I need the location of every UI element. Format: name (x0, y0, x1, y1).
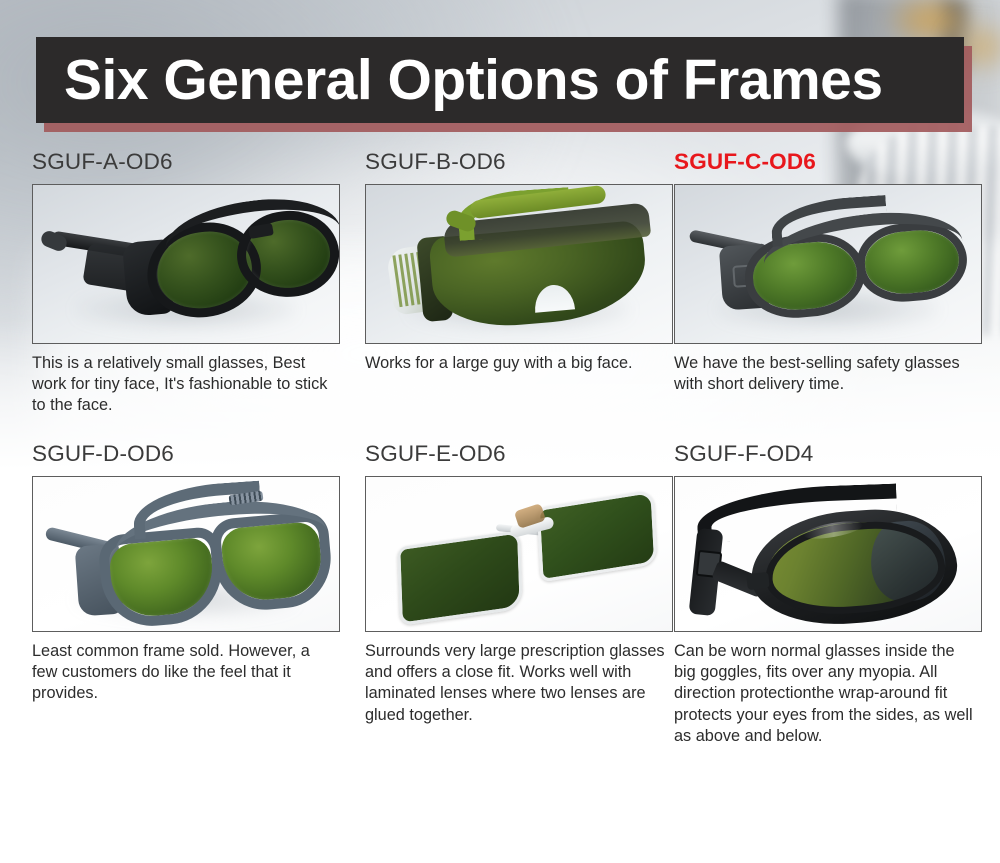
page-title-banner: Six General Options of Frames (36, 37, 964, 123)
product-sku-label: SGUF-F-OD4 (674, 442, 978, 467)
product-caption: Surrounds very large prescription glasse… (365, 641, 671, 726)
product-caption: Can be worn normal glasses inside the bi… (674, 641, 980, 747)
product-grid: SGUF-A-OD6 This is a relativel (0, 150, 1000, 747)
product-card-sguf-d[interactable]: SGUF-D-OD6 Least common frame sold. Howe… (0, 442, 345, 747)
product-sku-label: SGUF-E-OD6 (365, 442, 640, 467)
page-title: Six General Options of Frames (64, 52, 883, 109)
product-image-frame[interactable] (32, 184, 340, 344)
grey-fitover-safety-glasses-photo (675, 185, 981, 343)
product-caption: This is a relatively small glasses, Best… (32, 353, 338, 417)
product-image-frame[interactable] (365, 184, 673, 344)
product-card-sguf-f[interactable]: SGUF-F-OD4 Can be worn normal glasses in… (662, 442, 1000, 747)
goggles-vent (746, 572, 770, 590)
product-card-sguf-a[interactable]: SGUF-A-OD6 This is a relativel (0, 150, 345, 416)
black-wrap-safety-glasses-photo (33, 185, 339, 343)
product-image-frame[interactable] (32, 476, 340, 632)
black-goggles-photo (675, 477, 981, 631)
product-row-2: SGUF-D-OD6 Least common frame sold. Howe… (0, 442, 1000, 747)
product-image-frame[interactable] (674, 184, 982, 344)
product-caption: Least common frame sold. However, a few … (32, 641, 338, 705)
product-caption: We have the best-selling safety glasses … (674, 353, 980, 395)
product-image-frame[interactable] (365, 476, 673, 632)
product-card-sguf-c[interactable]: SGUF-C-OD6 We have the best-selling safe… (662, 150, 1000, 416)
product-caption: Works for a large guy with a big face. (365, 353, 671, 374)
title-banner-bar: Six General Options of Frames (36, 37, 964, 123)
slate-blue-safety-glasses-photo (33, 477, 339, 631)
green-over-spectacles-photo (366, 185, 672, 343)
product-sku-label: SGUF-B-OD6 (365, 150, 640, 175)
product-card-sguf-b[interactable]: SGUF-B-OD6 Work (345, 150, 662, 416)
product-sku-label: SGUF-D-OD6 (32, 442, 323, 467)
product-sku-label: SGUF-A-OD6 (32, 150, 323, 175)
clip-on-lens-photo (366, 477, 672, 631)
product-row-1: SGUF-A-OD6 This is a relativel (0, 150, 1000, 416)
product-card-sguf-e[interactable]: SGUF-E-OD6 Surrounds very large prescrip… (345, 442, 662, 747)
product-image-frame[interactable] (674, 476, 982, 632)
product-sku-label-highlighted: SGUF-C-OD6 (674, 150, 978, 175)
